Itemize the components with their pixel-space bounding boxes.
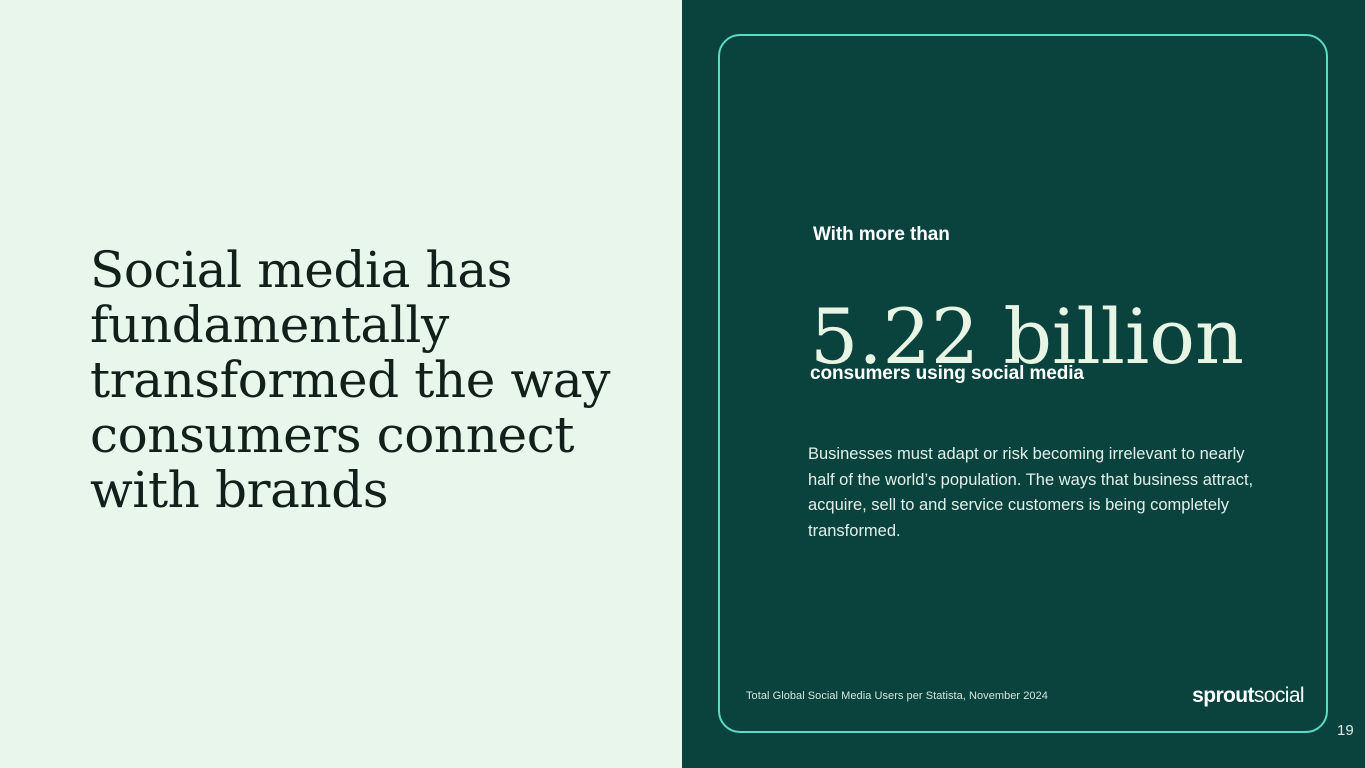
page-number: 19 [1337,722,1354,739]
sprout-social-logo: sproutsocial [1192,684,1304,708]
right-panel: With more than 5.22 billion consumers us… [682,0,1365,768]
page-title: Social media has fundamentally transform… [90,243,630,518]
logo-bold-text: sprout [1192,684,1254,707]
left-panel: Social media has fundamentally transform… [0,0,682,768]
stat-caption: consumers using social media [810,363,1084,385]
slide: Social media has fundamentally transform… [0,0,1365,768]
source-citation: Total Global Social Media Users per Stat… [746,690,1048,702]
card-footer: Total Global Social Media Users per Stat… [746,679,1304,713]
stat-card: With more than 5.22 billion consumers us… [718,34,1328,733]
stat-eyebrow-label: With more than [813,224,950,246]
logo-light-text: social [1254,684,1304,707]
body-paragraph: Businesses must adapt or risk becoming i… [808,442,1268,544]
